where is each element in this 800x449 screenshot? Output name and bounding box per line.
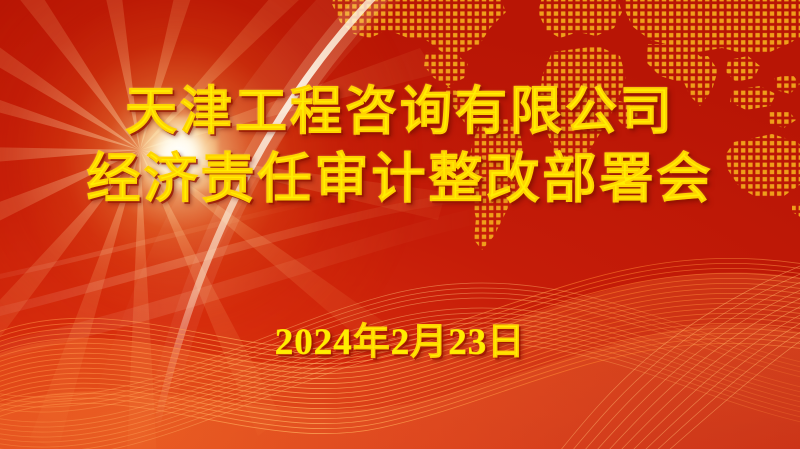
- wave-ribbons: [0, 239, 800, 449]
- banner-backdrop: 天津工程咨询有限公司 经济责任审计整改部署会 2024年2月23日: [0, 0, 800, 449]
